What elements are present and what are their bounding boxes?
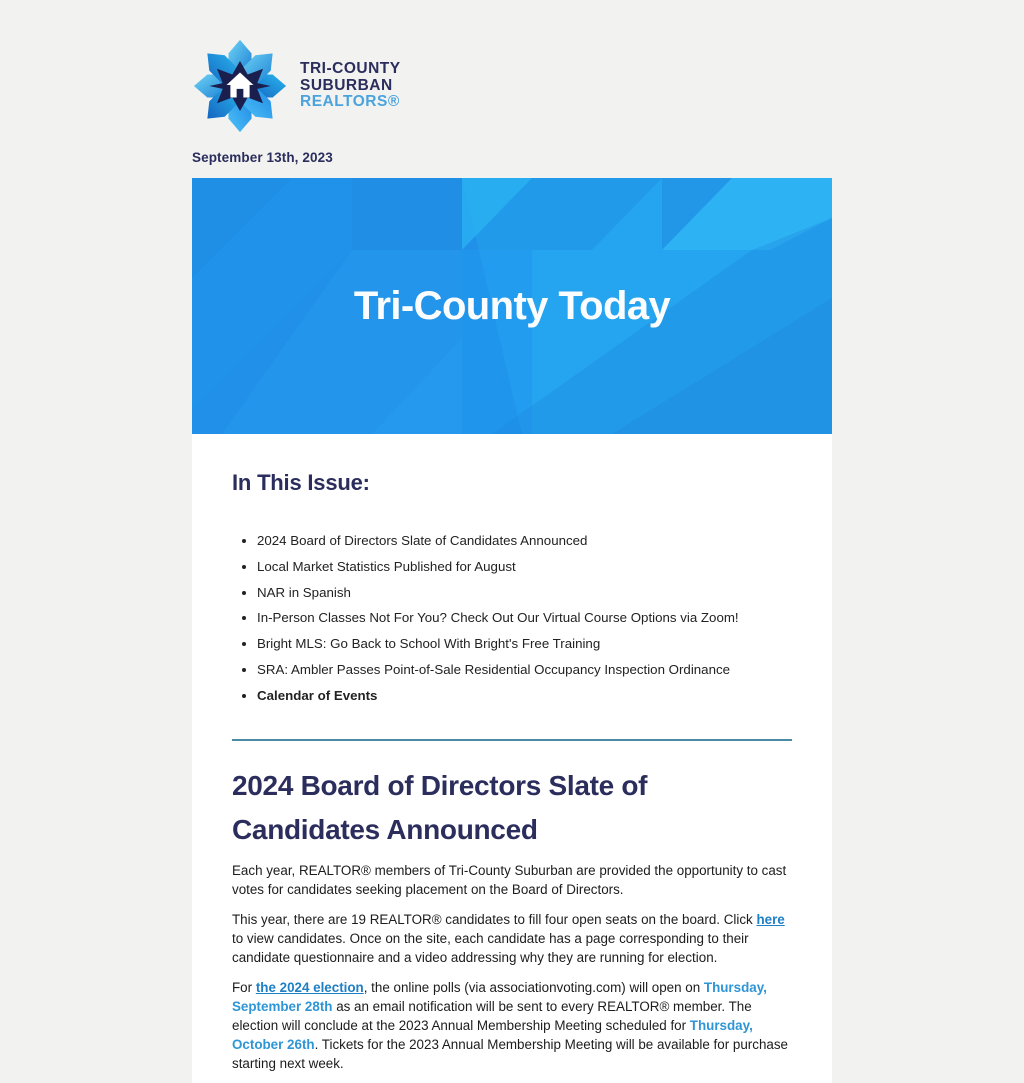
logo-line-2: SUBURBAN: [300, 78, 401, 95]
here-link[interactable]: here: [756, 912, 784, 927]
paragraph-3-text-1: For: [232, 980, 256, 995]
list-item[interactable]: In-Person Classes Not For You? Check Out…: [257, 611, 792, 624]
article-paragraph-3: For the 2024 election, the online polls …: [232, 978, 792, 1073]
paragraph-2-text-2: to view candidates. Once on the site, ea…: [232, 931, 749, 965]
paragraph-2-text-1: This year, there are 19 REALTOR® candida…: [232, 912, 756, 927]
article-title: 2024 Board of Directors Slate of Candida…: [232, 764, 792, 852]
logo-line-3: REALTORS®: [300, 94, 401, 111]
section-divider: [232, 739, 792, 741]
issue-date: September 13th, 2023: [192, 150, 1024, 165]
list-item[interactable]: NAR in Spanish: [257, 586, 792, 599]
tri-county-star-house-logo-icon: [192, 38, 288, 134]
hero-banner: Tri-County Today: [192, 178, 832, 434]
list-item[interactable]: Bright MLS: Go Back to School With Brigh…: [257, 637, 792, 650]
newsletter-card: Tri-County Today In This Issue: 2024 Boa…: [192, 178, 832, 1083]
list-item[interactable]: Calendar of Events: [257, 689, 792, 702]
election-link[interactable]: the 2024 election: [256, 980, 364, 995]
card-body: In This Issue: 2024 Board of Directors S…: [192, 470, 832, 1083]
in-this-issue-heading: In This Issue:: [232, 470, 792, 496]
newsletter-page: TRI-COUNTY SUBURBAN REALTORS® September …: [0, 0, 1024, 1024]
logo[interactable]: TRI-COUNTY SUBURBAN REALTORS®: [192, 38, 1024, 134]
header: TRI-COUNTY SUBURBAN REALTORS® September …: [0, 0, 1024, 165]
paragraph-3-text-4: . Tickets for the 2023 Annual Membership…: [232, 1037, 788, 1071]
article-paragraph-1: Each year, REALTOR® members of Tri-Count…: [232, 861, 792, 899]
logo-wordmark: TRI-COUNTY SUBURBAN REALTORS®: [300, 61, 401, 111]
in-this-issue-list: 2024 Board of Directors Slate of Candida…: [232, 534, 792, 702]
article-paragraph-2: This year, there are 19 REALTOR® candida…: [232, 910, 792, 967]
list-item[interactable]: SRA: Ambler Passes Point-of-Sale Residen…: [257, 663, 792, 676]
paragraph-3-text-2: , the online polls (via associationvotin…: [364, 980, 704, 995]
banner-title: Tri-County Today: [192, 178, 832, 434]
logo-line-1: TRI-COUNTY: [300, 61, 401, 78]
list-item[interactable]: 2024 Board of Directors Slate of Candida…: [257, 534, 792, 547]
list-item[interactable]: Local Market Statistics Published for Au…: [257, 560, 792, 573]
